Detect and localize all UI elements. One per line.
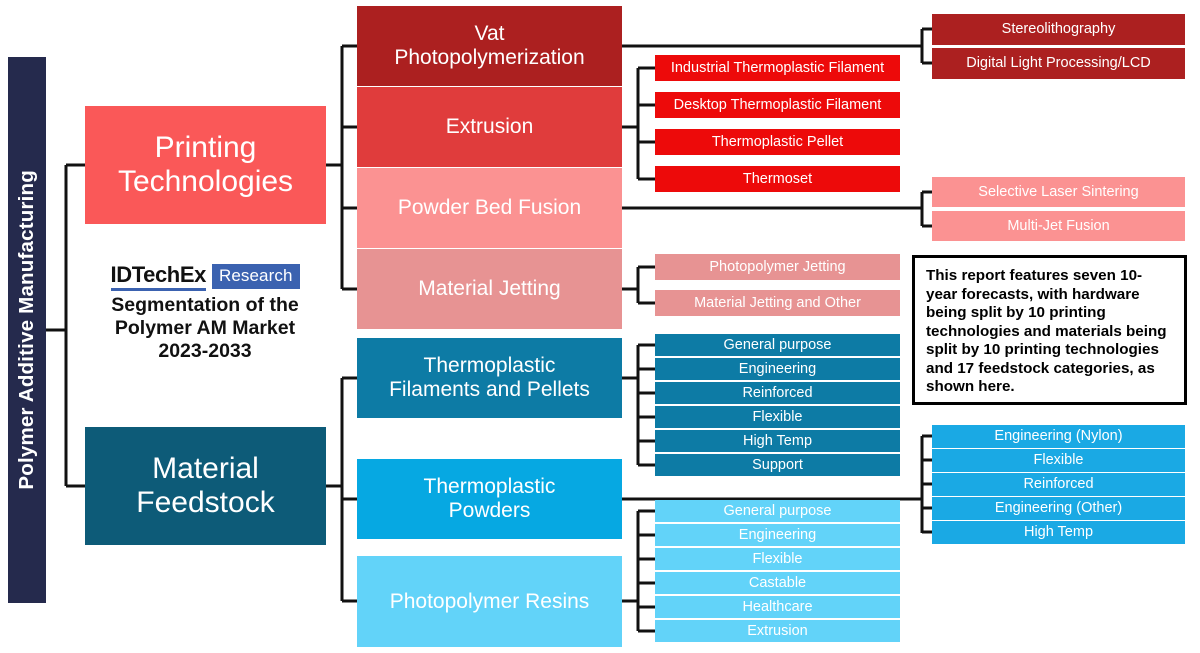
root-banner-label: Polymer Additive Manufacturing bbox=[15, 170, 39, 490]
node-digital-light-processing-lcd-label: Digital Light Processing/LCD bbox=[966, 55, 1151, 71]
node-digital-light-processing-lcd[interactable]: Digital Light Processing/LCD bbox=[932, 48, 1185, 79]
node-resins-castable[interactable]: Castable bbox=[655, 572, 900, 594]
node-material-jetting-and-other[interactable]: Material Jetting and Other bbox=[655, 290, 900, 316]
node-powders-reinforced[interactable]: Reinforced bbox=[932, 473, 1185, 496]
node-thermoplastic-pellet-label: Thermoplastic Pellet bbox=[712, 134, 843, 150]
node-thermoset-label: Thermoset bbox=[743, 171, 812, 187]
report-title-line3: 2023-2033 bbox=[60, 340, 350, 363]
report-title: Segmentation of the Polymer AM Market 20… bbox=[60, 294, 350, 363]
report-note-text: This report features seven 10-year forec… bbox=[926, 267, 1167, 395]
node-filaments-engineering[interactable]: Engineering bbox=[655, 358, 900, 380]
node-filaments-high-temp[interactable]: High Temp bbox=[655, 430, 900, 452]
node-printing-technologies[interactable]: Printing Technologies bbox=[85, 106, 326, 224]
node-filaments-flexible[interactable]: Flexible bbox=[655, 406, 900, 428]
node-thermoplastic-powders-line2: Powders bbox=[424, 499, 556, 523]
node-filaments-support-label: Support bbox=[752, 457, 803, 473]
node-material-jetting[interactable]: Material Jetting bbox=[357, 249, 622, 329]
node-resins-healthcare-label: Healthcare bbox=[742, 599, 812, 615]
idtechex-wordmark: IDTechEx bbox=[111, 262, 206, 291]
node-resins-extrusion-label: Extrusion bbox=[747, 623, 807, 639]
node-vat-photopolymerization[interactable]: Vat Photopolymerization bbox=[357, 6, 622, 86]
node-photopolymer-resins[interactable]: Photopolymer Resins bbox=[357, 556, 622, 647]
node-material-feedstock[interactable]: Material Feedstock bbox=[85, 427, 326, 545]
node-filaments-general-purpose[interactable]: General purpose bbox=[655, 334, 900, 356]
diagram-canvas: Polymer Additive Manufacturing Printing … bbox=[0, 0, 1200, 653]
node-filaments-high-temp-label: High Temp bbox=[743, 433, 812, 449]
node-resins-engineering-label: Engineering bbox=[739, 527, 816, 543]
report-note-callout: This report features seven 10-year forec… bbox=[912, 255, 1187, 405]
node-printing-technologies-line2: Technologies bbox=[118, 165, 293, 199]
node-thermoplastic-filaments-line1: Thermoplastic bbox=[389, 354, 590, 378]
node-photopolymer-jetting[interactable]: Photopolymer Jetting bbox=[655, 254, 900, 280]
node-powders-engineering-nylon-label: Engineering (Nylon) bbox=[994, 428, 1122, 444]
node-printing-technologies-line1: Printing bbox=[118, 131, 293, 165]
node-thermoplastic-filaments-line2: Filaments and Pellets bbox=[389, 378, 590, 402]
node-material-jetting-and-other-label: Material Jetting and Other bbox=[694, 295, 861, 311]
node-thermoplastic-pellet[interactable]: Thermoplastic Pellet bbox=[655, 129, 900, 155]
node-desktop-thermoplastic-filament-label: Desktop Thermoplastic Filament bbox=[674, 97, 882, 113]
node-material-feedstock-line2: Feedstock bbox=[136, 486, 274, 520]
node-selective-laser-sintering[interactable]: Selective Laser Sintering bbox=[932, 177, 1185, 207]
node-powders-high-temp[interactable]: High Temp bbox=[932, 521, 1185, 544]
idtechex-report-caption: IDTechEx Research Segmentation of the Po… bbox=[60, 262, 350, 363]
root-banner-polymer-additive-manufacturing: Polymer Additive Manufacturing bbox=[8, 57, 46, 603]
node-filaments-engineering-label: Engineering bbox=[739, 361, 816, 377]
node-resins-general-purpose[interactable]: General purpose bbox=[655, 500, 900, 522]
node-powder-bed-fusion-label: Powder Bed Fusion bbox=[398, 196, 581, 220]
node-vat-photopolymerization-line2: Photopolymerization bbox=[394, 46, 584, 70]
node-resins-engineering[interactable]: Engineering bbox=[655, 524, 900, 546]
node-powders-engineering-nylon[interactable]: Engineering (Nylon) bbox=[932, 425, 1185, 448]
node-resins-flexible-label: Flexible bbox=[753, 551, 803, 567]
node-filaments-reinforced[interactable]: Reinforced bbox=[655, 382, 900, 404]
node-powders-engineering-other-label: Engineering (Other) bbox=[995, 500, 1122, 516]
node-selective-laser-sintering-label: Selective Laser Sintering bbox=[978, 184, 1138, 200]
node-material-feedstock-line1: Material bbox=[136, 452, 274, 486]
node-thermoplastic-powders-line1: Thermoplastic bbox=[424, 475, 556, 499]
report-title-line1: Segmentation of the bbox=[60, 294, 350, 317]
node-powder-bed-fusion[interactable]: Powder Bed Fusion bbox=[357, 168, 622, 248]
node-industrial-thermoplastic-filament-label: Industrial Thermoplastic Filament bbox=[671, 60, 884, 76]
node-resins-castable-label: Castable bbox=[749, 575, 806, 591]
node-resins-healthcare[interactable]: Healthcare bbox=[655, 596, 900, 618]
node-multi-jet-fusion[interactable]: Multi-Jet Fusion bbox=[932, 211, 1185, 241]
node-powders-high-temp-label: High Temp bbox=[1024, 524, 1093, 540]
node-multi-jet-fusion-label: Multi-Jet Fusion bbox=[1007, 218, 1109, 234]
node-filaments-reinforced-label: Reinforced bbox=[742, 385, 812, 401]
node-thermoplastic-powders[interactable]: Thermoplastic Powders bbox=[357, 459, 622, 539]
node-stereolithography-label: Stereolithography bbox=[1002, 21, 1116, 37]
node-photopolymer-resins-label: Photopolymer Resins bbox=[390, 590, 590, 614]
node-extrusion-label: Extrusion bbox=[446, 115, 534, 139]
node-resins-extrusion[interactable]: Extrusion bbox=[655, 620, 900, 642]
node-industrial-thermoplastic-filament[interactable]: Industrial Thermoplastic Filament bbox=[655, 55, 900, 81]
node-photopolymer-jetting-label: Photopolymer Jetting bbox=[709, 259, 845, 275]
idtechex-logo: IDTechEx Research bbox=[60, 262, 350, 291]
node-resins-flexible[interactable]: Flexible bbox=[655, 548, 900, 570]
node-extrusion[interactable]: Extrusion bbox=[357, 87, 622, 167]
node-vat-photopolymerization-line1: Vat bbox=[394, 22, 584, 46]
node-powders-flexible-label: Flexible bbox=[1034, 452, 1084, 468]
node-filaments-flexible-label: Flexible bbox=[753, 409, 803, 425]
node-powders-flexible[interactable]: Flexible bbox=[932, 449, 1185, 472]
node-powders-reinforced-label: Reinforced bbox=[1023, 476, 1093, 492]
node-powders-engineering-other[interactable]: Engineering (Other) bbox=[932, 497, 1185, 520]
node-thermoplastic-filaments-and-pellets[interactable]: Thermoplastic Filaments and Pellets bbox=[357, 338, 622, 418]
node-filaments-support[interactable]: Support bbox=[655, 454, 900, 476]
node-resins-general-purpose-label: General purpose bbox=[723, 503, 831, 519]
node-stereolithography[interactable]: Stereolithography bbox=[932, 14, 1185, 45]
node-material-jetting-label: Material Jetting bbox=[418, 277, 560, 301]
node-filaments-general-purpose-label: General purpose bbox=[723, 337, 831, 353]
node-desktop-thermoplastic-filament[interactable]: Desktop Thermoplastic Filament bbox=[655, 92, 900, 118]
node-thermoset[interactable]: Thermoset bbox=[655, 166, 900, 192]
idtechex-research-badge: Research bbox=[212, 264, 300, 289]
report-title-line2: Polymer AM Market bbox=[60, 317, 350, 340]
